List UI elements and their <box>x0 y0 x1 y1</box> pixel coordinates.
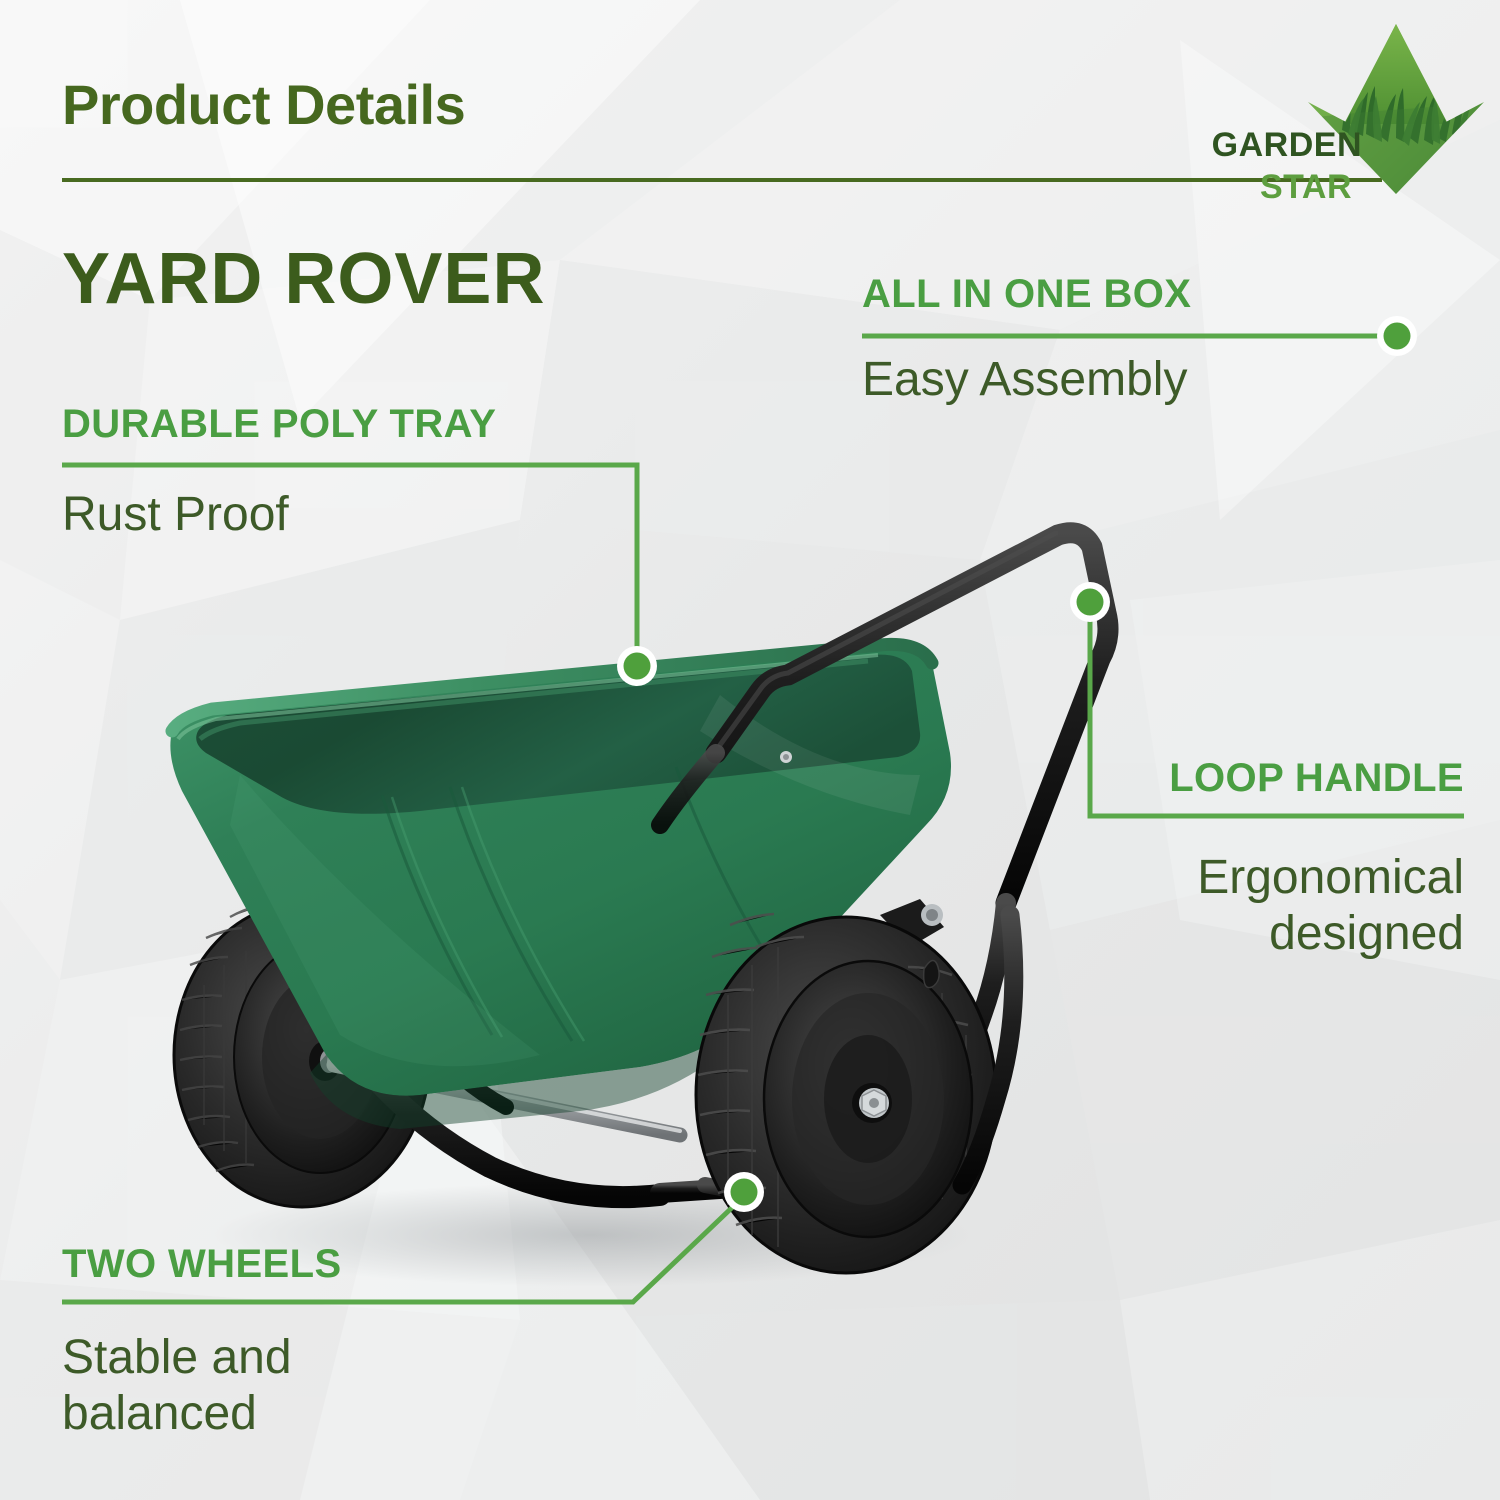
feature-body-all-in-one-box: Easy Assembly <box>862 352 1187 408</box>
feature-body-loop-handle: Ergonomical designed <box>1060 850 1464 961</box>
feature-title-all-in-one-box: ALL IN ONE BOX <box>862 272 1191 317</box>
feature-title-two-wheels: TWO WHEELS <box>62 1242 342 1287</box>
infographic-page: Product Details YARD ROVER <box>0 0 1500 1500</box>
feature-body-durable-poly-tray: Rust Proof <box>62 487 289 543</box>
feature-title-durable-poly-tray: DURABLE POLY TRAY <box>62 402 496 447</box>
feature-body-two-wheels-line1: Stable and <box>62 1330 292 1386</box>
dot-poly-tray <box>617 646 657 686</box>
dot-all-in-one-box <box>1377 316 1417 356</box>
dot-two-wheels <box>724 1172 764 1212</box>
feature-title-loop-handle: LOOP HANDLE <box>1134 756 1464 801</box>
dot-loop-handle <box>1070 582 1110 622</box>
feature-body-two-wheels-line2: balanced <box>62 1386 292 1442</box>
feature-body-loop-handle-line1: Ergonomical <box>1060 850 1464 906</box>
feature-body-two-wheels: Stable and balanced <box>62 1330 292 1441</box>
feature-body-loop-handle-line2: designed <box>1060 906 1464 962</box>
